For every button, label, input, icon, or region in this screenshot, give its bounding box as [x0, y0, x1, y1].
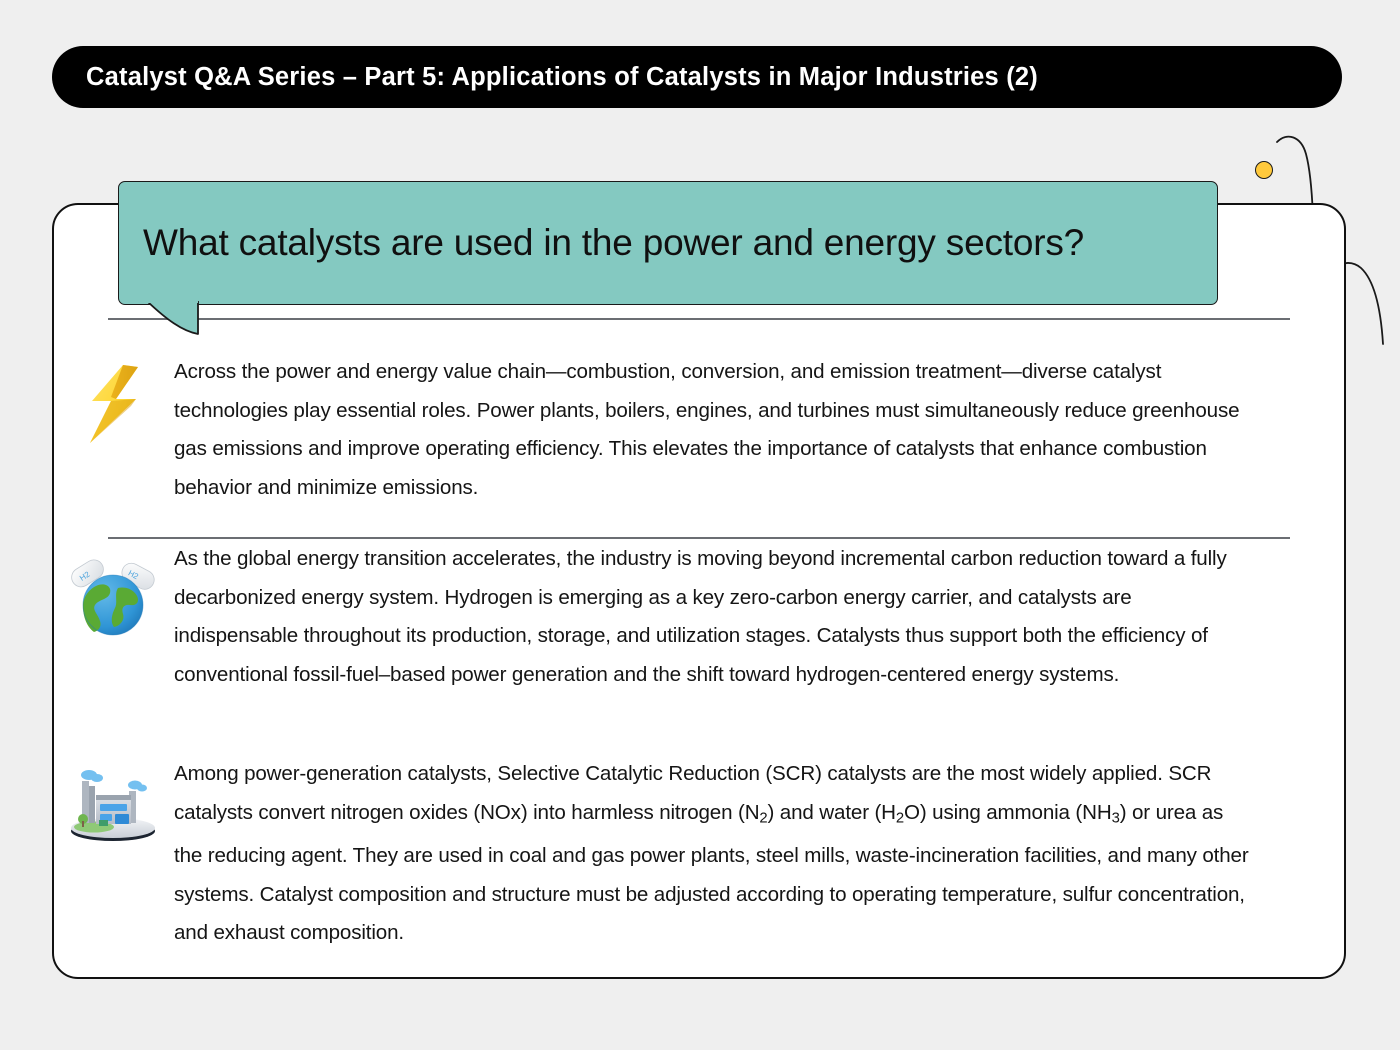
page-title: Catalyst Q&A Series – Part 5: Applicatio…	[86, 63, 1038, 92]
page-title-pill: Catalyst Q&A Series – Part 5: Applicatio…	[52, 46, 1342, 108]
row-paragraph: Across the power and energy value chain—…	[174, 353, 1264, 507]
content-row: Among power-generation catalysts, Select…	[52, 755, 1346, 953]
lightning-bolt-icon	[52, 353, 174, 447]
row-paragraph: Among power-generation catalysts, Select…	[174, 755, 1264, 953]
content-row: Across the power and energy value chain—…	[52, 353, 1346, 507]
bubble-tail-icon	[146, 301, 216, 337]
factory-icon	[52, 755, 174, 843]
globe-hydrogen-tanks-icon: H2 H2	[52, 540, 174, 640]
content-row: H2 H2 As the global energy transition ac…	[52, 540, 1346, 694]
content-rows: Across the power and energy value chain—…	[52, 203, 1346, 979]
row-paragraph: As the global energy transition accelera…	[174, 540, 1264, 694]
question-bubble: What catalysts are used in the power and…	[118, 181, 1218, 305]
question-text: What catalysts are used in the power and…	[143, 222, 1084, 264]
question-bubble-body: What catalysts are used in the power and…	[118, 181, 1218, 305]
yellow-dot-decoration-icon	[1255, 161, 1273, 179]
